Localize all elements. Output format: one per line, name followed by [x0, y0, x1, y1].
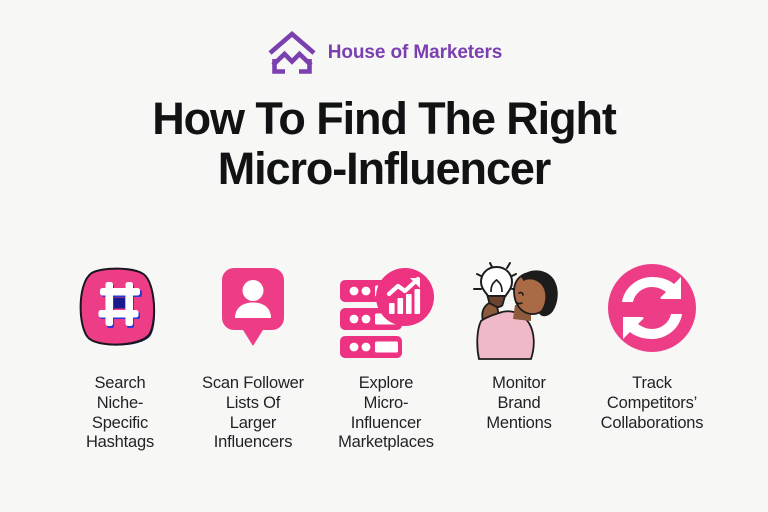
- caption-line: Mentions: [486, 414, 551, 434]
- step-caption-5: Track Competitors’ Collaborations: [601, 374, 704, 433]
- page-title-line-1: How To Find The Right: [152, 93, 615, 144]
- house-mountain-logo-icon: [266, 30, 318, 76]
- caption-line: Micro-: [338, 394, 434, 414]
- sync-arrows-icon: [588, 252, 716, 364]
- caption-line: Marketplaces: [338, 433, 434, 453]
- hashtag-icon: [56, 252, 184, 364]
- caption-line: Hashtags: [86, 433, 154, 453]
- caption-line: Brand: [486, 394, 551, 414]
- brand-logo: House of Marketers: [0, 30, 768, 76]
- caption-line: Explore: [338, 374, 434, 394]
- page-title: How To Find The Right Micro-Influencer: [0, 94, 768, 194]
- caption-line: Collaborations: [601, 414, 704, 434]
- infographic-slide: House of Marketers How To Find The Right…: [0, 0, 768, 512]
- brand-name: House of Marketers: [328, 42, 503, 64]
- person-lightbulb-icon: [455, 252, 583, 364]
- caption-line: Larger: [202, 414, 304, 434]
- caption-line: Niche-: [86, 394, 154, 414]
- step-caption-3: Explore Micro- Influencer Marketplaces: [338, 374, 434, 453]
- step-card-3: Explore Micro- Influencer Marketplaces: [322, 252, 450, 453]
- caption-line: Monitor: [486, 374, 551, 394]
- caption-line: Search: [86, 374, 154, 394]
- caption-line: Lists Of: [202, 394, 304, 414]
- step-caption-4: Monitor Brand Mentions: [486, 374, 551, 433]
- step-caption-2: Scan Follower Lists Of Larger Influencer…: [202, 374, 304, 453]
- caption-line: Track: [601, 374, 704, 394]
- caption-line: Influencer: [338, 414, 434, 434]
- server-analytics-icon: [322, 252, 450, 364]
- caption-line: Specific: [86, 414, 154, 434]
- steps-row: Search Niche- Specific Hashtags Scan Fol…: [56, 252, 716, 453]
- caption-line: Scan Follower: [202, 374, 304, 394]
- page-title-line-2: Micro-Influencer: [0, 144, 768, 194]
- step-caption-1: Search Niche- Specific Hashtags: [86, 374, 154, 453]
- step-card-5: Track Competitors’ Collaborations: [588, 252, 716, 433]
- follower-pin-icon: [189, 252, 317, 364]
- step-card-2: Scan Follower Lists Of Larger Influencer…: [189, 252, 317, 453]
- step-card-4: Monitor Brand Mentions: [455, 252, 583, 433]
- caption-line: Competitors’: [601, 394, 704, 414]
- caption-line: Influencers: [202, 433, 304, 453]
- step-card-1: Search Niche- Specific Hashtags: [56, 252, 184, 453]
